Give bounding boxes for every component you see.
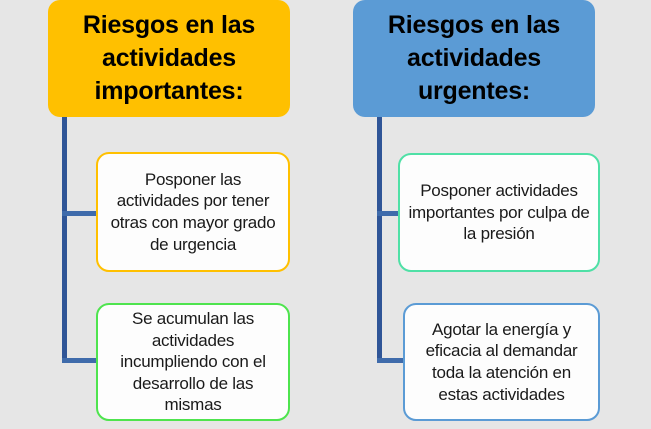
column-header-importantes[interactable]: Riesgos en las actividades importantes: [48, 0, 290, 117]
connector-branch-importantes-2 [62, 358, 100, 363]
item-urgentes-2[interactable]: Agotar la energía y eficacia al demandar… [403, 303, 600, 421]
column-header-urgentes[interactable]: Riesgos en las actividades urgentes: [353, 0, 595, 117]
connector-trunk-importantes [62, 117, 67, 363]
item-importantes-1[interactable]: Posponer las actividades por tener otras… [96, 152, 290, 272]
item-urgentes-1[interactable]: Posponer actividades importantes por cul… [398, 153, 600, 272]
connector-trunk-urgentes [377, 117, 382, 363]
diagram-canvas: Riesgos en las actividades importantes: … [0, 0, 651, 429]
item-importantes-2-label: Se acumulan las actividades incumpliendo… [98, 308, 288, 416]
item-importantes-2[interactable]: Se acumulan las actividades incumpliendo… [96, 303, 290, 421]
item-importantes-1-label: Posponer las actividades por tener otras… [98, 169, 288, 255]
column-header-importantes-label: Riesgos en las actividades importantes: [48, 9, 290, 109]
connector-branch-importantes-1 [62, 211, 100, 216]
column-header-urgentes-label: Riesgos en las actividades urgentes: [353, 9, 595, 109]
connector-branch-urgentes-2 [377, 358, 405, 363]
item-urgentes-1-label: Posponer actividades importantes por cul… [400, 180, 598, 245]
item-urgentes-2-label: Agotar la energía y eficacia al demandar… [405, 319, 598, 405]
